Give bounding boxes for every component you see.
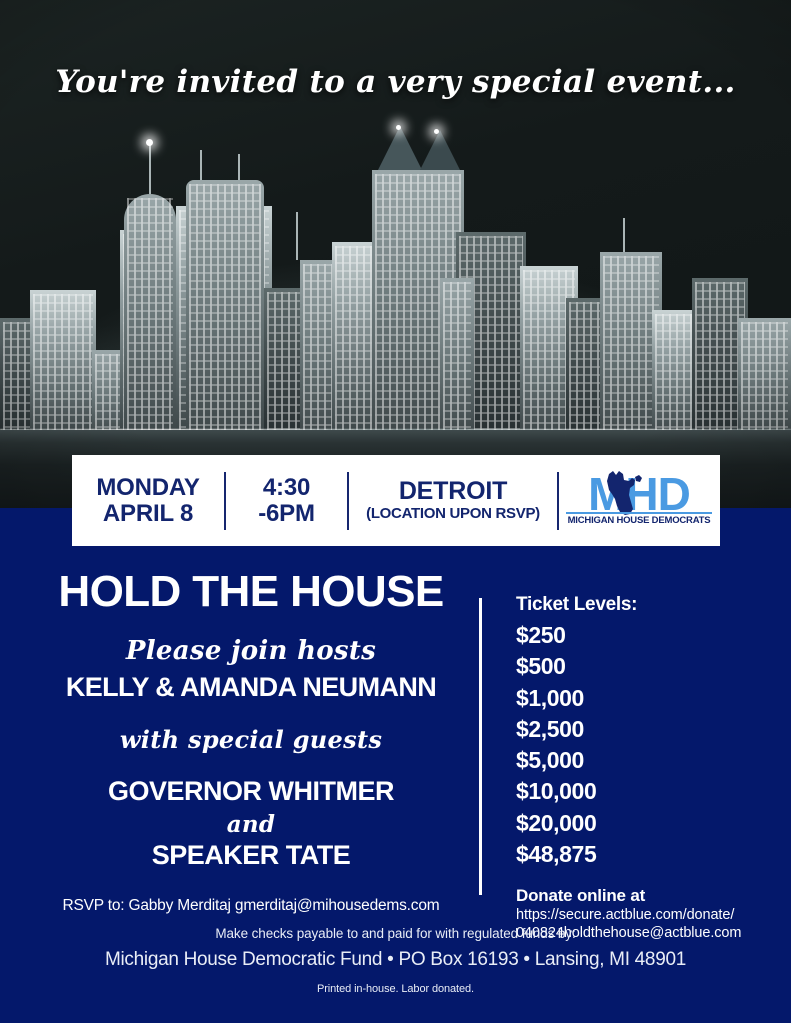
column-divider (479, 598, 482, 895)
event-time-start: 4:30 (263, 475, 310, 501)
event-info-column: HOLD THE HOUSE Please join hosts KELLY &… (36, 570, 466, 915)
ticket-level-item[interactable]: $20,000 (516, 808, 778, 839)
ticket-level-item[interactable]: $1,000 (516, 683, 778, 714)
hosts-names: KELLY & AMANDA NEUMANN (36, 672, 466, 703)
ticket-levels-column: Ticket Levels: $250 $500 $1,000 $2,500 $… (516, 594, 778, 943)
event-date-day: MONDAY (96, 475, 199, 501)
event-city: DETROIT (399, 478, 507, 506)
special-guest-governor: GOVERNOR WHITMER (36, 776, 466, 807)
tower-beacon-light (146, 139, 153, 146)
ticket-level-item[interactable]: $5,000 (516, 745, 778, 776)
footer-disclaimer: Make checks payable to and paid for with… (0, 926, 791, 941)
donate-heading: Donate online at (516, 886, 778, 906)
skyline-banner: You're invited to a very special event..… (0, 0, 791, 508)
event-location: DETROIT (LOCATION UPON RSVP) (349, 478, 557, 524)
ticket-level-item[interactable]: $48,875 (516, 839, 778, 870)
page-title: HOLD THE HOUSE (36, 570, 466, 614)
mhd-logo-tagline: MICHIGAN HOUSE DEMOCRATS (566, 512, 712, 526)
ticket-level-item[interactable]: $500 (516, 651, 778, 682)
michigan-state-icon (602, 468, 648, 516)
event-date-date: APRIL 8 (103, 501, 193, 527)
donate-url-line-1[interactable]: https://secure.actblue.com/donate/ (516, 906, 778, 924)
footer-committee-address: Michigan House Democratic Fund • PO Box … (0, 949, 791, 971)
flyer-body: HOLD THE HOUSE Please join hosts KELLY &… (0, 546, 791, 1023)
event-time: 4:30 -6PM (226, 475, 347, 526)
special-guest-speaker: SPEAKER TATE (36, 840, 466, 871)
guests-conjunction: and (36, 811, 466, 838)
event-date: MONDAY APRIL 8 (72, 475, 224, 526)
event-details-bar: MONDAY APRIL 8 4:30 -6PM DETROIT (LOCATI… (72, 455, 720, 546)
rsvp-contact[interactable]: RSVP to: Gabby Merditaj gmerditaj@mihous… (36, 897, 466, 915)
invite-headline: You're invited to a very special event..… (0, 64, 791, 100)
detroit-skyline-illustration (0, 98, 791, 438)
ticket-levels-heading: Ticket Levels: (516, 594, 778, 616)
ticket-level-item[interactable]: $10,000 (516, 776, 778, 807)
mhd-logo: MHD MICHIGAN HOUSE DEMOCRATS (559, 470, 719, 532)
footer-printing-note: Printed in-house. Labor donated. (0, 983, 791, 995)
flyer-footer: Make checks payable to and paid for with… (0, 926, 791, 995)
hosts-intro: Please join hosts (36, 636, 466, 666)
event-location-note: (LOCATION UPON RSVP) (366, 505, 540, 523)
ticket-level-item[interactable]: $2,500 (516, 714, 778, 745)
event-flyer: You're invited to a very special event..… (0, 0, 791, 1023)
guests-intro: with special guests (36, 725, 466, 754)
event-time-end: -6PM (258, 501, 315, 527)
ticket-level-item[interactable]: $250 (516, 620, 778, 651)
